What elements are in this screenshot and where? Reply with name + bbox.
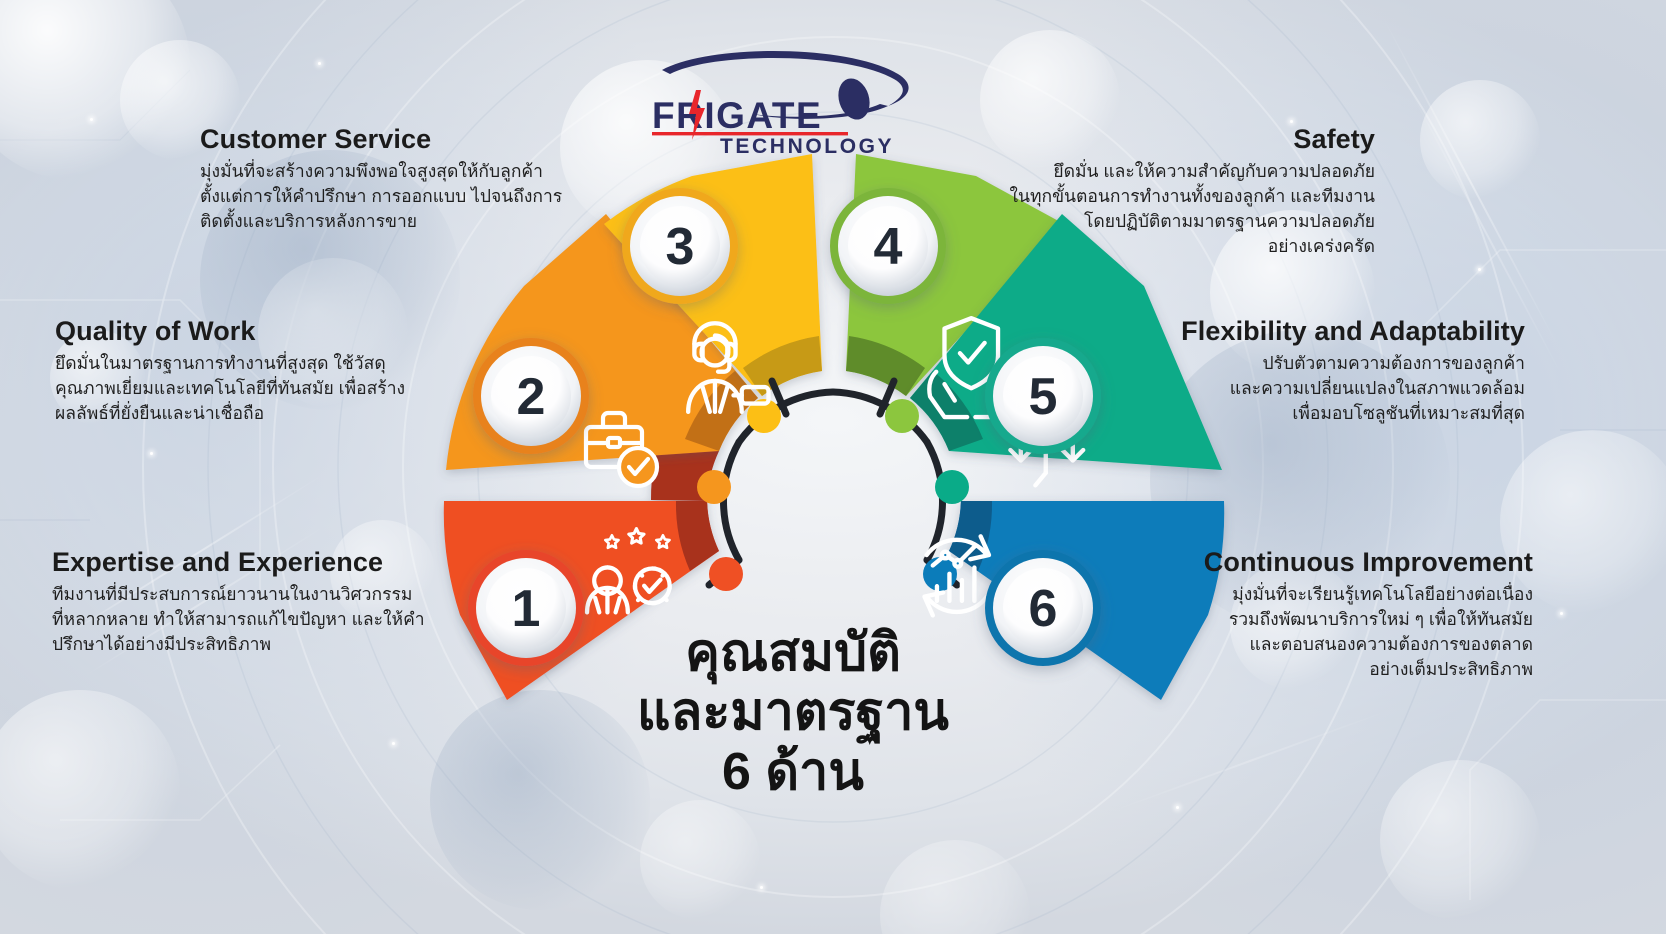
frigate-technology-logo: FRIGATE TECHNOLOGY — [648, 48, 918, 156]
badge-number-4: 4 — [874, 218, 903, 276]
heading-expertise-and-experience: Expertise and Experience — [52, 547, 464, 578]
heading-customer-service: Customer Service — [200, 124, 620, 155]
badge-number-1: 1 — [512, 580, 541, 638]
hub-dot-2 — [697, 470, 731, 504]
badge-number-6: 6 — [1029, 580, 1058, 638]
body-customer-service: มุ่งมั่นที่จะสร้างความพึงพอใจสูงสุดให้กั… — [200, 159, 620, 234]
badge-number-5: 5 — [1029, 368, 1058, 426]
logo-brand-text: FRIGATE — [652, 95, 822, 136]
hub-dot-1 — [709, 557, 743, 591]
heading-flexibility-and-adaptability: Flexibility and Adaptability — [1100, 316, 1525, 347]
badge-number-2: 2 — [517, 368, 546, 426]
heading-safety: Safety — [955, 124, 1375, 155]
hub-dot-5 — [935, 470, 969, 504]
badge-4[interactable]: 4 — [830, 188, 946, 304]
badge-2[interactable]: 2 — [473, 338, 589, 454]
badge-1[interactable]: 1 — [468, 550, 584, 666]
block-safety: Safety ยึดมั่น และให้ความสำคัญกับความปลอ… — [955, 124, 1375, 258]
logo-tagline-text: TECHNOLOGY — [720, 135, 894, 156]
center-title: คุณสมบัติ และมาตรฐาน 6 ด้าน — [583, 624, 1003, 802]
block-quality-of-work: Quality of Work ยึดมั่นในมาตรฐานการทำงาน… — [55, 316, 455, 426]
body-flexibility-and-adaptability: ปรับตัวตามความต้องการของลูกค้า และความเป… — [1100, 351, 1525, 426]
badge-5[interactable]: 5 — [985, 338, 1101, 454]
body-safety: ยึดมั่น และให้ความสำคัญกับความปลอดภัย ใน… — [955, 159, 1375, 258]
block-flexibility-and-adaptability: Flexibility and Adaptability ปรับตัวตามค… — [1100, 316, 1525, 426]
block-expertise-and-experience: Expertise and Experience ทีมงานที่มีประส… — [52, 547, 464, 657]
heading-continuous-improvement: Continuous Improvement — [1138, 547, 1533, 578]
badge-number-3: 3 — [666, 218, 695, 276]
block-customer-service: Customer Service มุ่งมั่นที่จะสร้างความพ… — [200, 124, 620, 234]
hub-dots — [697, 399, 969, 591]
heading-quality-of-work: Quality of Work — [55, 316, 455, 347]
block-continuous-improvement: Continuous Improvement มุ่งมั่นที่จะเรีย… — [1138, 547, 1533, 681]
body-quality-of-work: ยึดมั่นในมาตรฐานการทำงานที่สูงสุด ใช้วัส… — [55, 351, 455, 426]
body-continuous-improvement: มุ่งมั่นที่จะเรียนรู้เทคโนโลยีอย่างต่อเน… — [1138, 582, 1533, 681]
hub-dot-4 — [885, 399, 919, 433]
body-expertise-and-experience: ทีมงานที่มีประสบการณ์ยาวนานในงานวิศวกรรม… — [52, 582, 464, 657]
hub-connector-arc — [709, 381, 957, 585]
badge-3[interactable]: 3 — [622, 188, 738, 304]
